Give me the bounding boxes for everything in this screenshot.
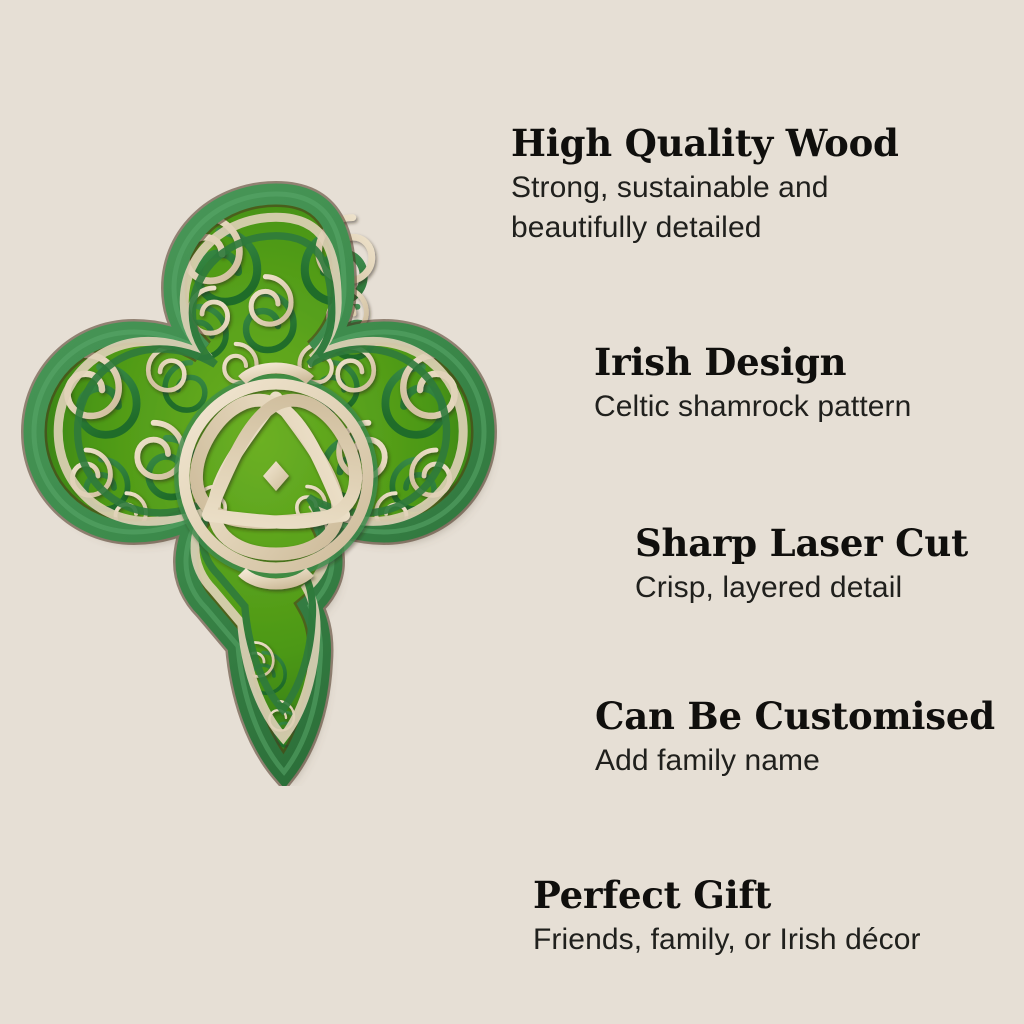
- feature-description: Celtic shamrock pattern: [594, 387, 911, 427]
- feature-title: Can Be Customised: [595, 697, 995, 736]
- feature-description: Crisp, layered detail: [635, 568, 968, 608]
- feature-description-line: Crisp, layered detail: [635, 568, 968, 608]
- feature-description-line: Add family name: [595, 741, 995, 781]
- feature-title: Perfect Gift: [533, 876, 921, 915]
- feature-title: Irish Design: [594, 343, 911, 382]
- feature-description-line: Strong, sustainable and: [511, 168, 899, 208]
- product-image-shamrock: [6, 176, 546, 786]
- feature-title: High Quality Wood: [511, 124, 899, 163]
- feature-description-line: Celtic shamrock pattern: [594, 387, 911, 427]
- feature-item-can-be-customised: Can Be Customised Add family name: [595, 697, 995, 781]
- feature-title: Sharp Laser Cut: [635, 524, 968, 563]
- feature-list: High Quality Wood Strong, sustainable an…: [500, 0, 1024, 1024]
- shamrock-illustration: [6, 176, 546, 786]
- feature-description-line: Friends, family, or Irish décor: [533, 920, 921, 960]
- feature-item-irish-design: Irish Design Celtic shamrock pattern: [594, 343, 911, 427]
- infographic-canvas: High Quality Wood Strong, sustainable an…: [0, 0, 1024, 1024]
- feature-description: Strong, sustainable and beautifully deta…: [511, 168, 899, 247]
- feature-description: Friends, family, or Irish décor: [533, 920, 921, 960]
- feature-description: Add family name: [595, 741, 995, 781]
- feature-item-high-quality-wood: High Quality Wood Strong, sustainable an…: [511, 124, 899, 247]
- feature-item-sharp-laser-cut: Sharp Laser Cut Crisp, layered detail: [635, 524, 968, 608]
- feature-description-line: beautifully detailed: [511, 208, 899, 248]
- feature-item-perfect-gift: Perfect Gift Friends, family, or Irish d…: [533, 876, 921, 960]
